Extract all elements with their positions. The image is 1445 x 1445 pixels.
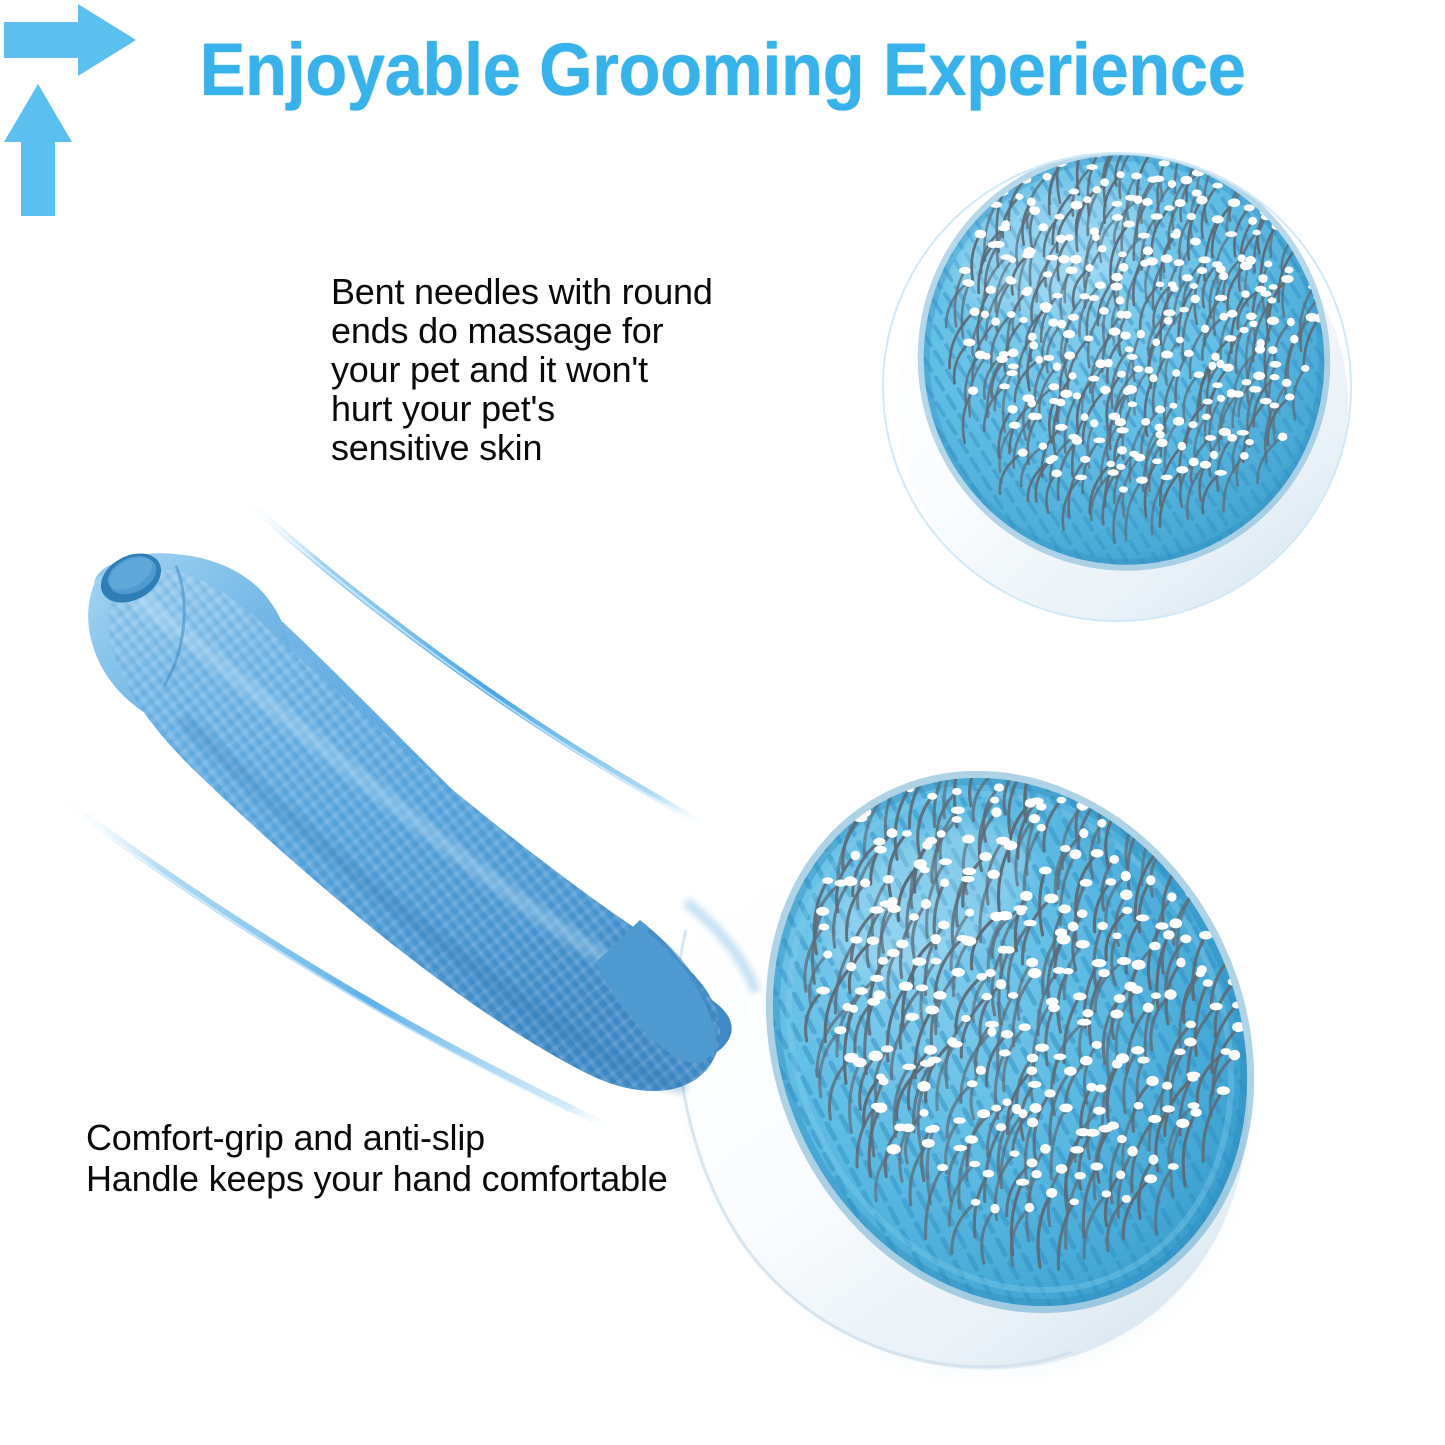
page-title: Enjoyable Grooming Experience bbox=[51, 28, 1395, 112]
arrow-up-icon bbox=[0, 80, 76, 220]
callout-text-needles: Bent needles with round ends do massage … bbox=[331, 272, 751, 467]
arrow-right-icon bbox=[0, 0, 140, 80]
callout-text-handle: Comfort-grip and anti-slip Handle keeps … bbox=[86, 1117, 706, 1199]
closeup-inset bbox=[880, 113, 1370, 626]
infographic-canvas: Enjoyable Grooming Experience Bent needl… bbox=[0, 0, 1445, 1445]
product-illustration bbox=[0, 0, 1445, 1445]
grip-handle bbox=[88, 544, 756, 1091]
